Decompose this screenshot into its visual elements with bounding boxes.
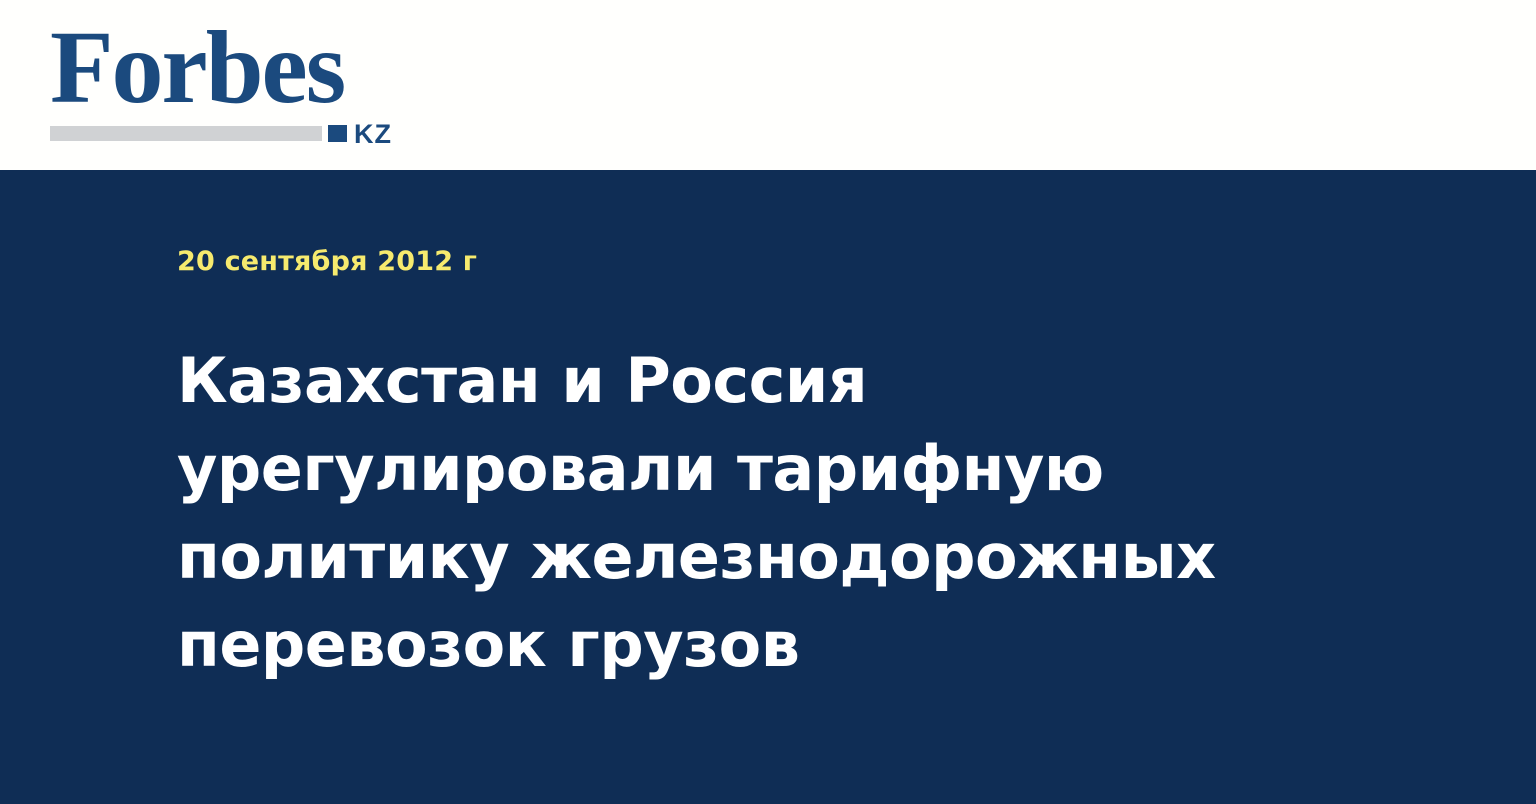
- article-title: Казахстан и Россия урегулировали тарифну…: [177, 337, 1237, 689]
- logo-kz-suffix: kz: [354, 121, 392, 148]
- forbes-wordmark: Forbes: [50, 16, 344, 120]
- article-hero-content: 20 сентября 2012 г Казахстан и Россия ур…: [177, 248, 1357, 689]
- article-date: 20 сентября 2012 г: [177, 248, 1357, 275]
- logo-square-icon: [328, 125, 347, 142]
- site-logo[interactable]: Forbes kz: [50, 22, 410, 144]
- site-masthead: Forbes kz: [0, 0, 1536, 170]
- article-hero-page: Forbes kz 20 сентября 2012 г Казахстан и…: [0, 0, 1536, 804]
- logo-underline-bar: [50, 126, 322, 141]
- article-hero: 20 сентября 2012 г Казахстан и Россия ур…: [0, 170, 1536, 804]
